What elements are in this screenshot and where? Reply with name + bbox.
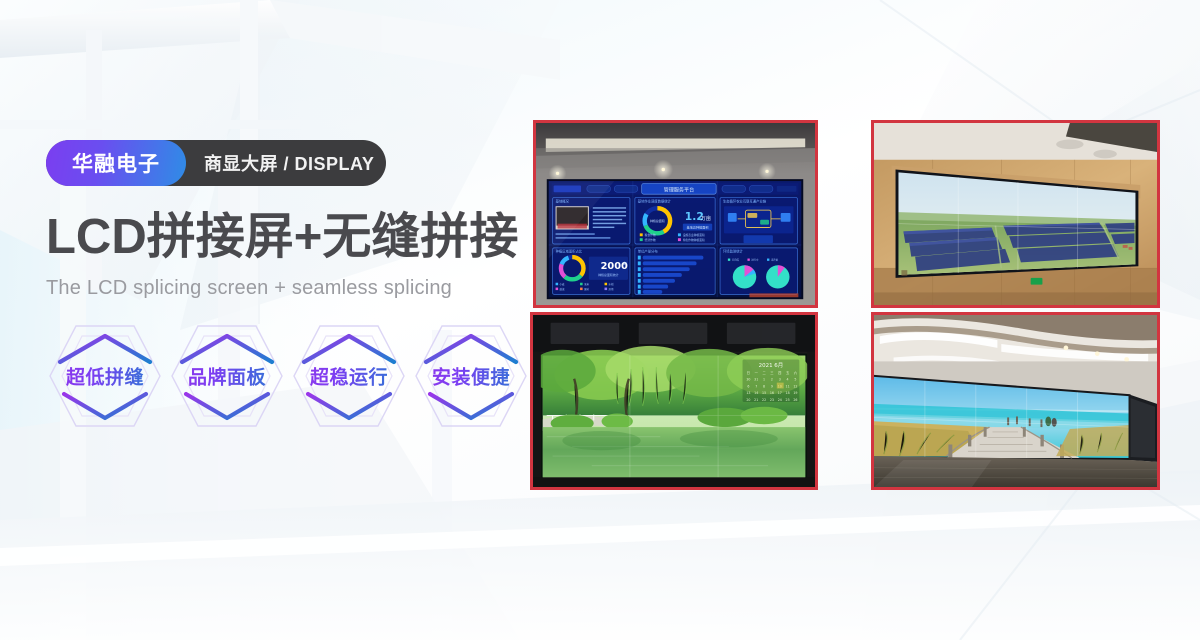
brand-name: 华融电子: [72, 148, 160, 178]
svg-text:14: 14: [754, 391, 758, 395]
svg-text:果树: 果树: [584, 287, 590, 291]
svg-text:万亩: 万亩: [700, 214, 711, 222]
headline-block: 华融电子 商显大屏 / DISPLAY LCD拼接屏+无缝拼接 The LCD …: [46, 140, 566, 430]
svg-text:蔬菜: 蔬菜: [559, 287, 565, 291]
svg-text:粮食作物: 粮食作物: [645, 233, 656, 237]
dashboard-scene: 管理服务平台 基地概况 基地作业调度数据统计 生态循环农业互联互通产业链 种植区…: [536, 123, 815, 305]
svg-text:22: 22: [762, 398, 766, 402]
product-photo-solar-farm: [871, 120, 1160, 308]
svg-text:水稻: 水稻: [608, 282, 614, 286]
svg-text:单位产量分布: 单位产量分布: [638, 249, 659, 254]
svg-text:6: 6: [747, 384, 749, 388]
page-title: LCD拼接屏+无缝拼接: [46, 212, 566, 263]
feature-badge-row: 超低拼缝 品牌面板 超稳运行: [46, 322, 566, 430]
svg-text:23: 23: [770, 398, 774, 402]
product-photo-beach: [871, 312, 1160, 490]
willow-lake-scene: 2021 6月 日一二三 四五六 303112 345 6789 101112 …: [533, 315, 815, 487]
svg-text:种植总面积: 种植总面积: [650, 218, 665, 223]
brand-pill-row: 华融电子 商显大屏 / DISPLAY: [46, 140, 566, 186]
svg-text:11: 11: [786, 384, 790, 388]
svg-text:其他: 其他: [608, 287, 614, 291]
feature-badge: 品牌面板: [168, 322, 286, 430]
svg-text:5: 5: [794, 378, 796, 382]
svg-text:19: 19: [793, 391, 797, 395]
svg-text:12: 12: [793, 384, 797, 388]
svg-text:种植区域面积占比: 种植区域面积占比: [556, 249, 583, 254]
feature-badge: 超低拼缝: [46, 322, 164, 430]
svg-text:17: 17: [778, 391, 782, 395]
svg-text:2021 6月: 2021 6月: [759, 362, 784, 369]
feature-label: 安装便捷: [412, 363, 530, 390]
svg-text:30: 30: [746, 378, 750, 382]
svg-text:16: 16: [770, 391, 774, 395]
promo-banner: 华融电子 商显大屏 / DISPLAY LCD拼接屏+无缝拼接 The LCD …: [0, 0, 1200, 640]
svg-text:26: 26: [793, 398, 797, 402]
svg-text:三: 三: [770, 371, 773, 375]
svg-text:未开始: 未开始: [771, 258, 779, 262]
svg-text:20: 20: [746, 398, 750, 402]
svg-text:4: 4: [787, 378, 789, 382]
svg-text:经济作物: 经济作物: [645, 238, 656, 242]
svg-text:亩: 亩: [623, 260, 627, 265]
category-label: 商显大屏 / DISPLAY: [186, 140, 374, 186]
svg-text:管理服务平台: 管理服务平台: [664, 186, 694, 193]
svg-text:环境监测统计: 环境监测统计: [723, 249, 744, 254]
svg-text:玉米: 玉米: [584, 282, 590, 286]
svg-text:基地总种植面积: 基地总种植面积: [687, 225, 709, 230]
svg-text:小麦: 小麦: [559, 282, 565, 286]
feature-label: 超稳运行: [290, 363, 408, 390]
svg-text:3: 3: [779, 378, 781, 382]
svg-text:基地作业调度数据统计: 基地作业调度数据统计: [638, 198, 672, 203]
feature-badge: 安装便捷: [412, 322, 530, 430]
svg-text:31: 31: [754, 378, 758, 382]
svg-text:特色作物种植面积: 特色作物种植面积: [683, 238, 705, 242]
beach-boardwalk-scene: [874, 315, 1157, 487]
brand-pill: 华融电子: [46, 140, 186, 186]
svg-text:13: 13: [746, 391, 750, 395]
feature-badge: 超稳运行: [290, 322, 408, 430]
svg-text:8: 8: [763, 384, 765, 388]
solar-farm-scene: [874, 123, 1157, 305]
svg-text:种植总面积统计: 种植总面积统计: [598, 272, 619, 277]
svg-text:1: 1: [763, 378, 765, 382]
svg-text:9: 9: [771, 384, 773, 388]
svg-text:设施农业种植面积: 设施农业种植面积: [683, 233, 705, 237]
feature-label: 超低拼缝: [46, 363, 164, 390]
svg-text:已完成: 已完成: [732, 258, 740, 262]
page-subtitle: The LCD splicing screen + seamless splic…: [46, 277, 566, 300]
svg-text:24: 24: [778, 398, 782, 402]
feature-label: 品牌面板: [168, 363, 286, 390]
svg-text:进行中: 进行中: [751, 258, 759, 262]
svg-text:生态循环农业互联互通产业链: 生态循环农业互联互通产业链: [723, 198, 767, 203]
svg-text:25: 25: [786, 398, 790, 402]
svg-text:18: 18: [786, 391, 790, 395]
svg-text:15: 15: [762, 391, 766, 395]
product-photo-landscape: 2021 6月 日一二三 四五六 303112 345 6789 101112 …: [530, 312, 818, 490]
product-photo-dashboard: 管理服务平台 基地概况 基地作业调度数据统计 生态循环农业互联互通产业链 种植区…: [533, 120, 818, 308]
svg-text:日: 日: [747, 371, 750, 375]
svg-text:7: 7: [755, 384, 757, 388]
svg-text:四: 四: [778, 371, 781, 375]
svg-text:21: 21: [754, 398, 758, 402]
svg-text:2: 2: [771, 378, 773, 382]
